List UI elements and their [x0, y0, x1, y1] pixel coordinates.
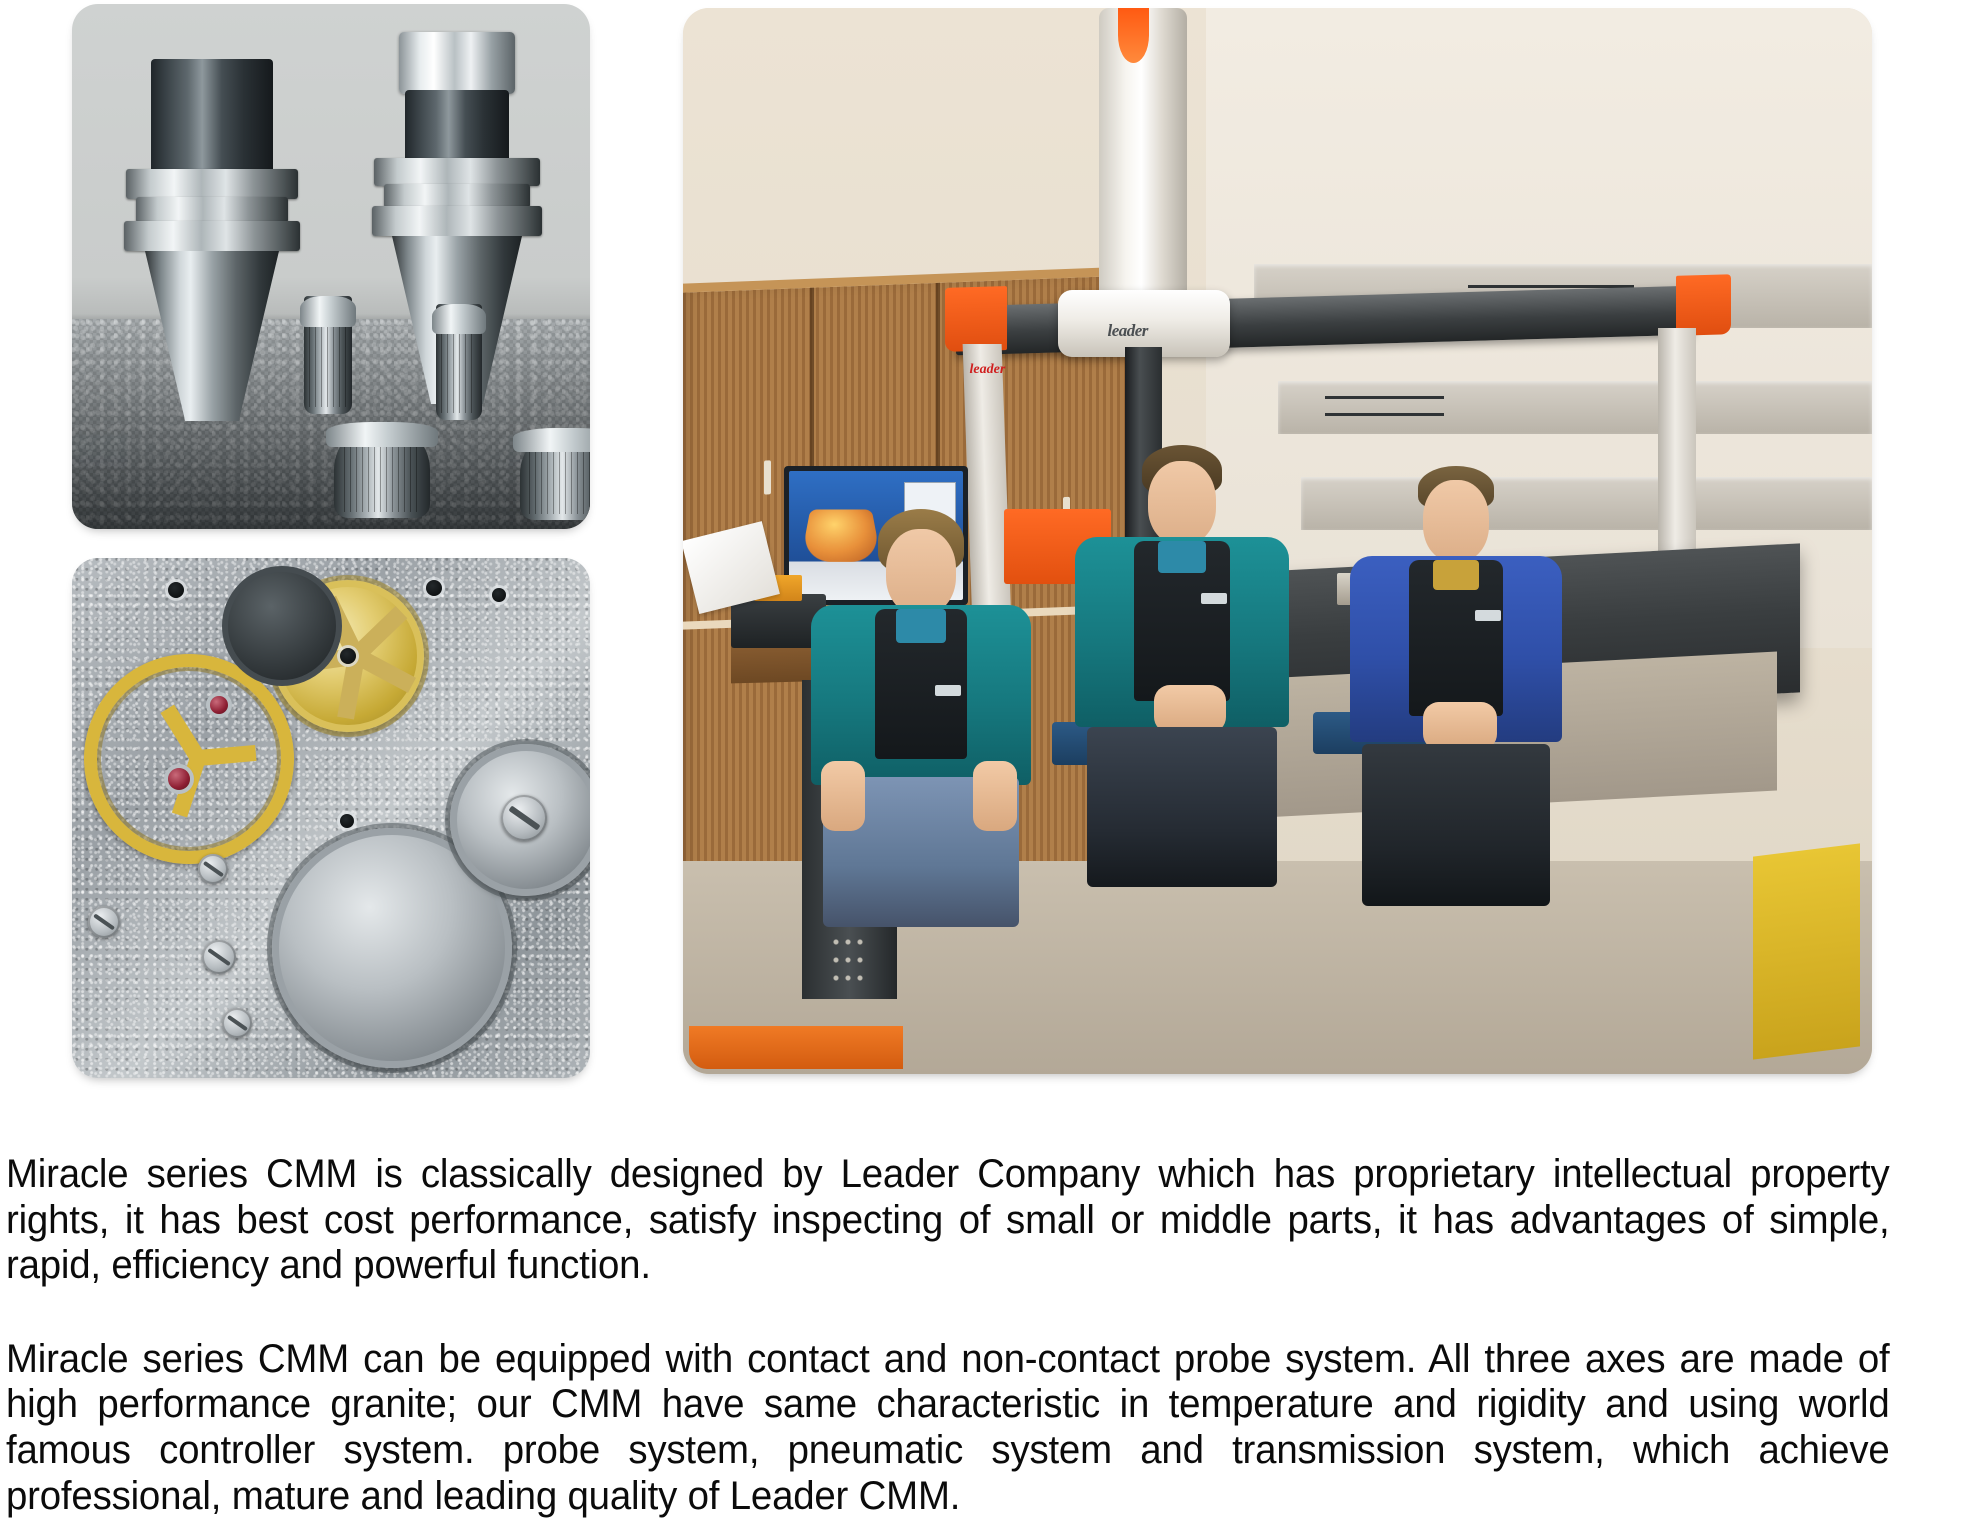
paragraph-1: Miracle series CMM is classically design…	[6, 1152, 1890, 1289]
worker-clasped-hands	[1154, 685, 1226, 733]
cmm-brand-label-leg: leader	[970, 362, 1006, 378]
worker-collar	[1158, 541, 1206, 573]
collet-front-center	[334, 422, 430, 518]
holder-flange-upper	[126, 169, 298, 199]
worker-right	[1337, 466, 1575, 1063]
worker-hand-left	[821, 761, 865, 831]
plate-screw-1	[198, 854, 228, 884]
worker-jacket-logo	[935, 685, 961, 696]
tool-holder-left	[112, 59, 312, 459]
worker-trousers	[1362, 744, 1550, 906]
ruby-jewel-2	[168, 768, 190, 790]
wall-panel-middle	[1278, 381, 1873, 434]
holder-flange-upper	[374, 158, 540, 186]
worker-trousers	[1087, 727, 1277, 887]
worker-collar	[1433, 560, 1479, 590]
plate-screw-4	[222, 1008, 252, 1038]
worker-head	[886, 529, 956, 615]
plate-hole-4	[340, 814, 354, 828]
holder-taper-cone	[145, 251, 279, 421]
collet-nut	[399, 32, 515, 94]
holder-flange-lower	[124, 221, 300, 251]
collet-small-right	[436, 304, 482, 420]
brochure-page: leader leader	[0, 0, 1975, 1537]
holder-shank	[151, 59, 273, 171]
ruby-jewel-1	[210, 696, 228, 714]
worker-clasped-hands	[1423, 702, 1497, 750]
image-watch-movement	[72, 558, 590, 1078]
worker-left	[802, 509, 1040, 1074]
worker-head	[1423, 480, 1489, 562]
cmm-beam-end-cap-right	[1676, 274, 1731, 335]
plate-hole-3	[492, 588, 506, 602]
plate-hole-1	[168, 582, 184, 598]
yellow-floor-panel	[1753, 844, 1860, 1060]
paragraph-2: Miracle series CMM can be equipped with …	[6, 1337, 1890, 1519]
dark-gear-top	[222, 566, 342, 686]
panel-slot	[1325, 396, 1444, 399]
holder-vgroove	[136, 197, 288, 223]
image-tool-holders	[72, 4, 590, 529]
collet-front-right	[520, 428, 590, 520]
orange-floor-strip	[689, 1026, 903, 1069]
worker-jacket-logo	[1475, 610, 1501, 621]
plate-screw-2	[88, 906, 120, 938]
plate-screw-3	[202, 940, 236, 974]
description-text-block: Miracle series CMM is classically design…	[6, 1152, 1968, 1519]
holder-flange-lower	[372, 206, 542, 236]
worker-hand-right	[973, 761, 1017, 831]
collet-small-left	[304, 296, 352, 414]
cmm-brand-label-carriage: leader	[1107, 321, 1147, 341]
gear-screw	[501, 795, 547, 841]
holder-vgroove	[384, 184, 530, 208]
cmm-leg-right	[1658, 328, 1696, 584]
steel-gear-right	[450, 744, 590, 896]
cmm-beam-end-cap-left	[945, 286, 1007, 352]
gear-center-hole	[340, 648, 356, 664]
image-cmm-lab: leader leader	[683, 8, 1872, 1074]
worker-collar	[896, 609, 946, 643]
plate-hole-2	[426, 580, 442, 596]
cabinet-handle	[764, 459, 771, 493]
worker-center	[1063, 445, 1301, 1063]
worker-head	[1148, 461, 1216, 545]
panel-slot	[1325, 413, 1444, 416]
holder-shank	[405, 90, 509, 162]
worker-jacket-logo	[1201, 593, 1227, 604]
